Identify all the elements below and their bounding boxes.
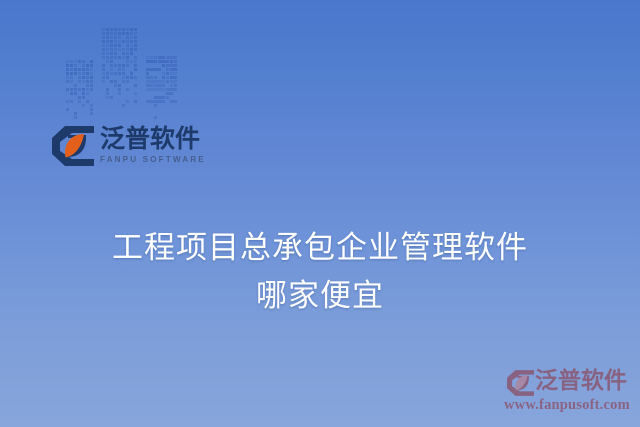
fanpu-watermark-logo-icon [507, 370, 534, 396]
brand-wordmark: 泛普软件 FANPU SOFTWARE [100, 124, 200, 166]
watermark-brand-row: 泛普软件 [503, 368, 637, 398]
page-title: 工程项目总承包企业管理软件 哪家便宜 [0, 224, 640, 320]
watermark-brand-name: 泛普软件 [535, 367, 627, 395]
pixel-skyline-graphic [66, 24, 186, 120]
page-title-line-2: 哪家便宜 [0, 272, 640, 320]
page-title-line-1: 工程项目总承包企业管理软件 [0, 224, 640, 272]
site-watermark: 泛普软件 www.fanpusoft.com [503, 368, 637, 418]
slide-canvas: 泛普软件 FANPU SOFTWARE 工程项目总承包企业管理软件 哪家便宜 泛… [0, 0, 640, 427]
fanpu-hexagon-logo-icon [52, 126, 94, 166]
brand-logo: 泛普软件 FANPU SOFTWARE [52, 124, 202, 172]
watermark-url: www.fanpusoft.com [504, 397, 630, 414]
brand-name-cn: 泛普软件 [100, 124, 200, 154]
brand-name-en: FANPU SOFTWARE [100, 154, 200, 166]
